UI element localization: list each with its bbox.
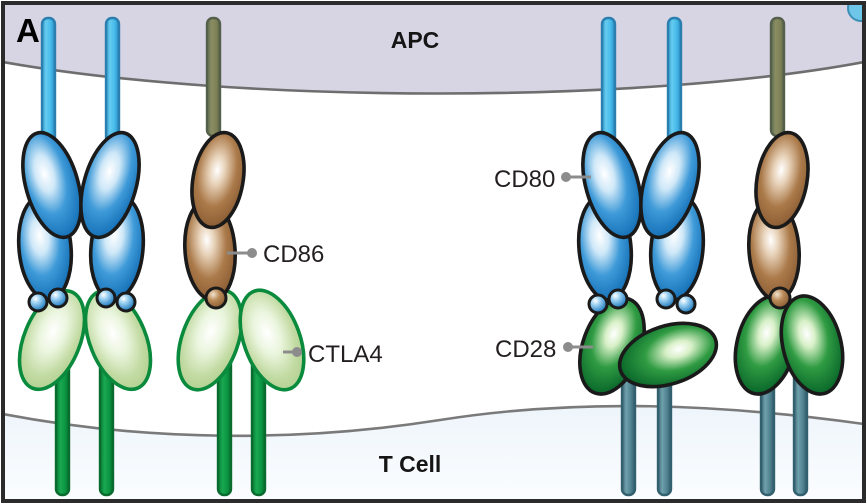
leader-dot (247, 248, 257, 258)
cd80-stem (42, 18, 55, 143)
panel-label: A (16, 12, 40, 49)
leader-dot (292, 347, 302, 357)
cd86-stem (207, 18, 220, 136)
apc-label: APC (391, 27, 440, 53)
binding-sphere (206, 288, 226, 308)
leader-dot (563, 342, 573, 352)
cd80-stem (602, 18, 615, 143)
binding-sphere (117, 293, 135, 311)
binding-sphere (97, 289, 115, 307)
binding-sphere (657, 290, 675, 308)
binding-sphere (29, 293, 47, 311)
label-text-cd80: CD80 (494, 166, 555, 193)
leader-dot (561, 172, 571, 182)
binding-sphere (677, 295, 695, 313)
cd86-stem (771, 18, 784, 136)
diagram-canvas: CD86 CTLA4 CD80 CD28 APC T Cell A (0, 0, 867, 504)
tcell-label: T Cell (379, 451, 442, 477)
label-text-ctla4: CTLA4 (308, 341, 383, 368)
label-text-cd86: CD86 (263, 241, 324, 268)
binding-sphere (589, 295, 607, 313)
figure-panel-a: CD86 CTLA4 CD80 CD28 APC T Cell A (0, 0, 867, 504)
cd80-stem (668, 18, 681, 143)
binding-sphere (770, 288, 790, 308)
cd80-stem (106, 18, 119, 143)
binding-sphere (49, 289, 67, 307)
binding-sphere (609, 290, 627, 308)
label-text-cd28: CD28 (495, 336, 556, 363)
